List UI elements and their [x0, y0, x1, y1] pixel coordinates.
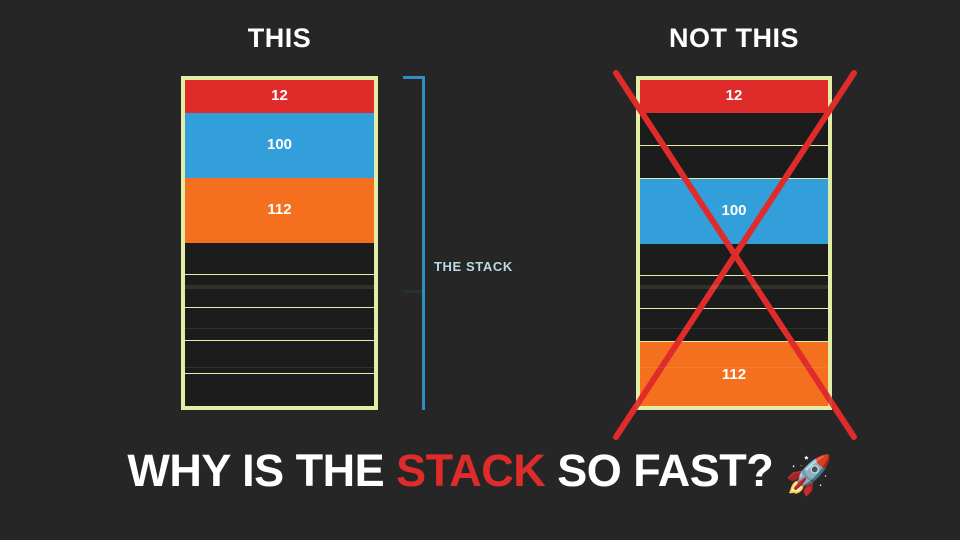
stack-cell-empty: [640, 309, 828, 342]
slide-canvas: THIS NOT THIS 12100112 THE STACK 1210011…: [0, 0, 960, 540]
stack-cell-empty: [640, 113, 828, 146]
caption-highlight-stack: STACK: [396, 445, 545, 496]
stack-cell-value: 112: [640, 342, 828, 406]
column-header-this: THIS: [181, 23, 378, 54]
column-header-not-this: NOT THIS: [636, 23, 832, 54]
bracket-vertical-line: [422, 76, 425, 410]
bracket-label-the-stack: THE STACK: [434, 259, 513, 274]
stack-cell-empty: [640, 146, 828, 179]
stack-cell-empty: [185, 341, 374, 374]
stack-cell-value: 112: [185, 178, 374, 243]
stack-cell-empty: [185, 374, 374, 406]
stack-cell-empty: [185, 308, 374, 341]
stack-cell-empty: [640, 276, 828, 309]
stack-bracket: [403, 76, 425, 410]
stack-cell-value: 12: [185, 80, 374, 113]
stack-cell-empty: [185, 275, 374, 308]
stack-diagram-good: 12100112: [181, 76, 378, 410]
slide-caption: WHY IS THE STACK SO FAST? 🚀: [0, 445, 960, 498]
stack-cell-value: 100: [640, 179, 828, 244]
stack-cell-empty: [185, 243, 374, 276]
stack-diagram-bad: 12100112: [636, 76, 832, 410]
stack-cell-value: 12: [640, 80, 828, 113]
stack-cell-value: 100: [185, 113, 374, 178]
caption-part2: SO FAST?: [545, 445, 785, 496]
caption-part1: WHY IS THE: [127, 445, 396, 496]
rocket-icon: 🚀: [785, 455, 832, 497]
stack-cell-empty: [640, 244, 828, 277]
